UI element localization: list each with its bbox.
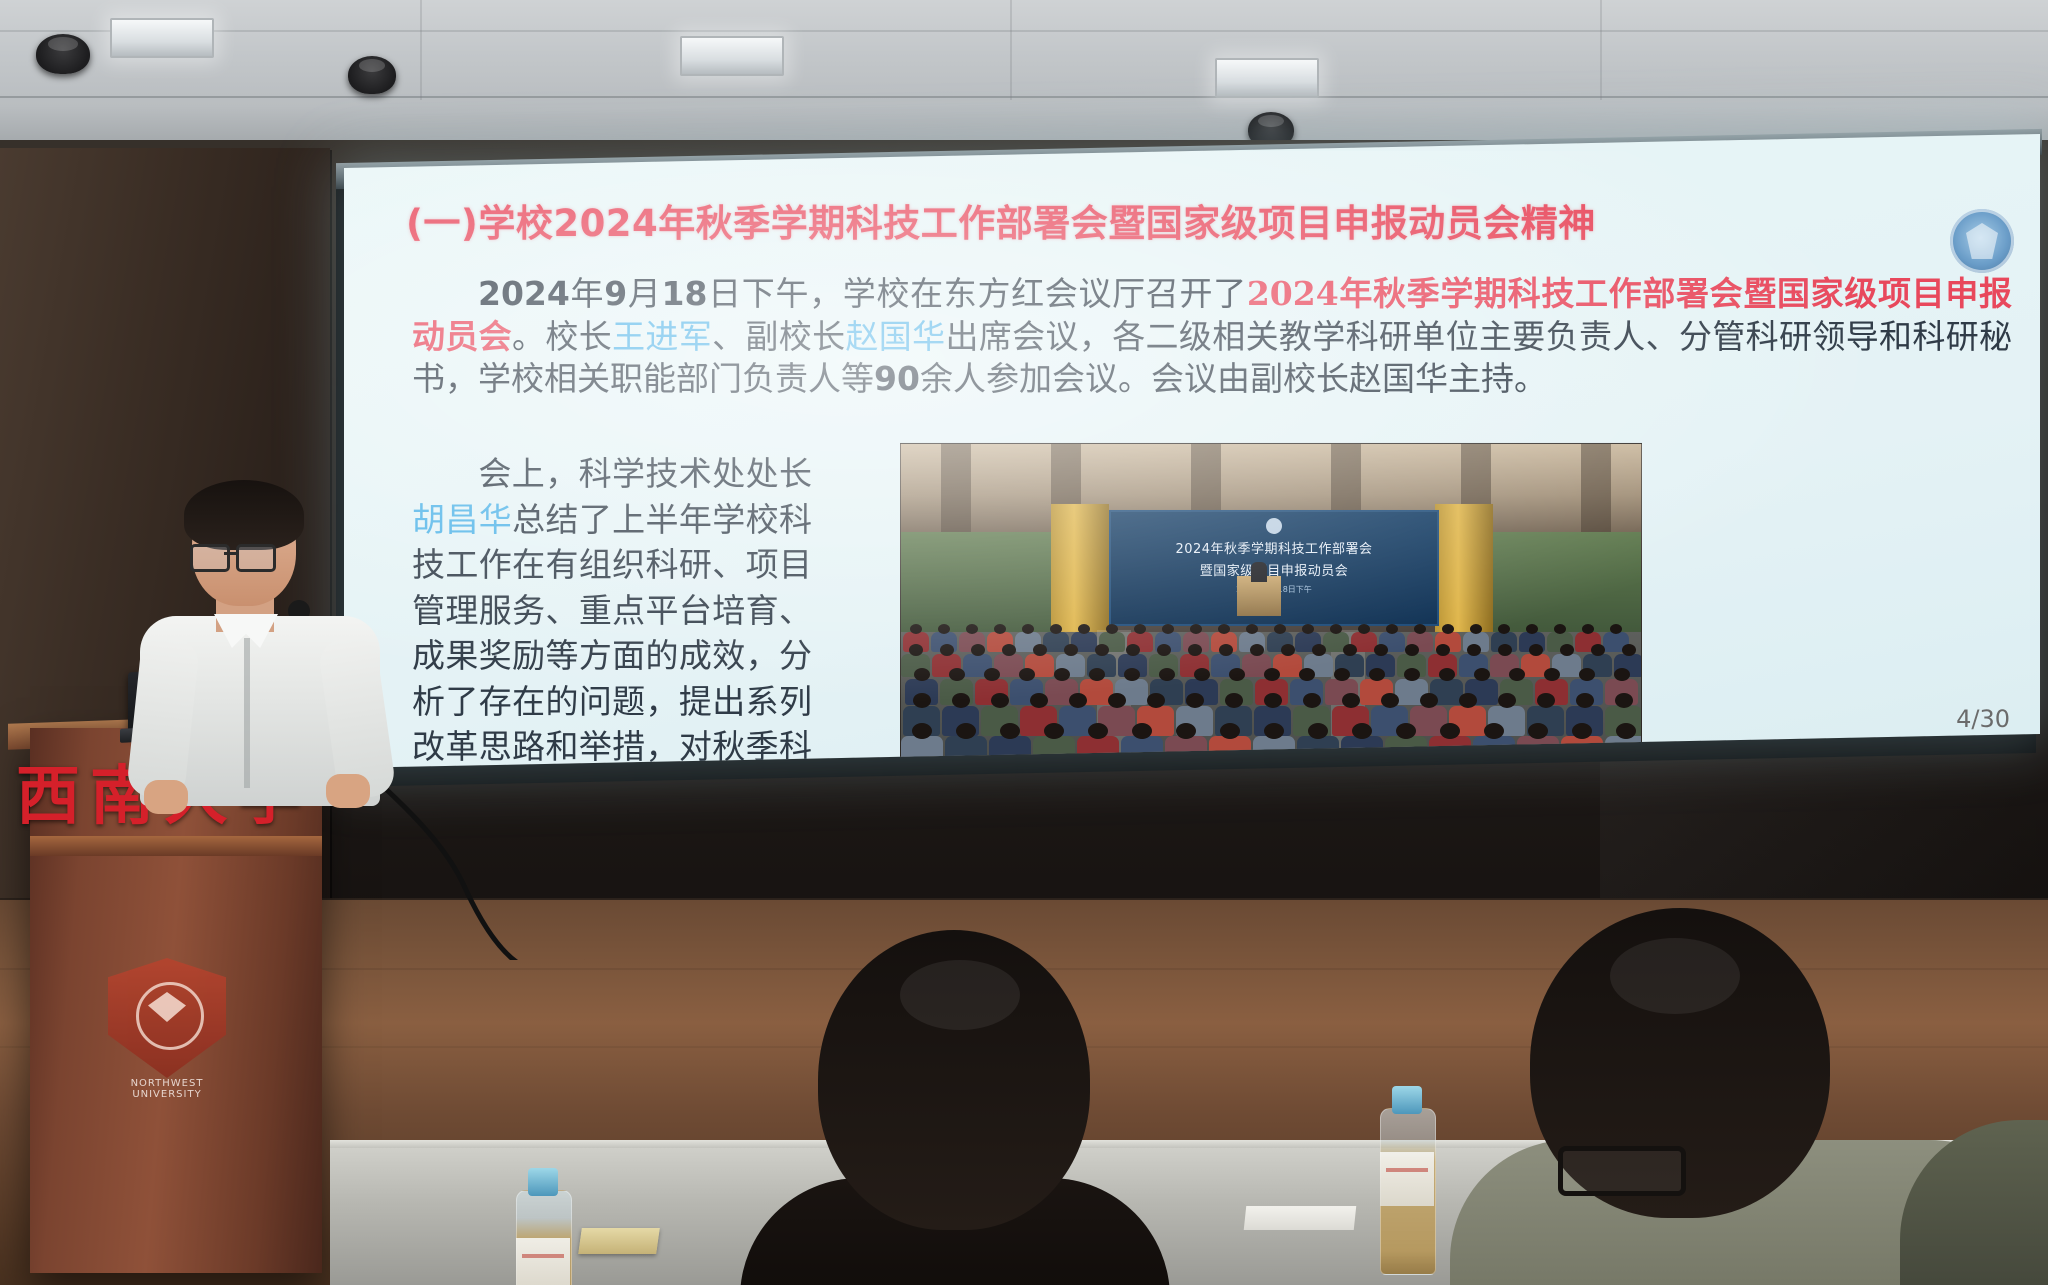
photo-audience-head — [1528, 723, 1548, 739]
photo-audience-head — [1420, 693, 1438, 708]
ceiling-seam — [0, 96, 2048, 98]
p1-seg11-name: 赵国华 — [845, 317, 945, 356]
p1-seg6: 日下午，学校在东方红会议厅召开了 — [707, 274, 1246, 313]
presenter-shirt-placket — [244, 638, 250, 788]
podium-emblem: NORTHWEST UNIVERSITY — [108, 958, 226, 1094]
photo-audience-head — [938, 624, 950, 634]
photo-audience-head — [909, 644, 923, 656]
presenter-hair — [184, 480, 304, 550]
photo-audience-head — [1126, 644, 1140, 656]
photo-audience-head — [1229, 668, 1245, 681]
photo-audience-head — [1498, 624, 1510, 634]
emblem-label: NORTHWEST UNIVERSITY — [108, 1078, 226, 1100]
photo-audience-head — [1019, 668, 1035, 681]
photo-audience-head — [1576, 693, 1594, 708]
photo-audience-head — [1342, 693, 1360, 708]
photo-audience-head — [1162, 624, 1174, 634]
photo-audience-head — [1582, 624, 1594, 634]
audience-glasses — [1558, 1146, 1686, 1196]
ceiling-light-panel — [1215, 58, 1319, 98]
photo-audience-head — [1022, 624, 1034, 634]
photo-audience-head — [1147, 693, 1165, 708]
photo-audience-head — [1386, 624, 1398, 634]
photo-audience-head — [1054, 668, 1070, 681]
hair-highlight — [1610, 938, 1740, 1014]
photo-audience-head — [1614, 668, 1630, 681]
ceiling-seam — [420, 0, 422, 100]
podium-band — [30, 836, 322, 856]
photo-audience-head — [1436, 644, 1450, 656]
photo-audience-head — [1050, 624, 1062, 634]
p1-seg10: 、副校长 — [712, 317, 845, 356]
room-scene: (一)学校2024年秋季学期科技工作部署会暨国家级项目申报动员会精神 2024年… — [0, 0, 2048, 1285]
photo-screen-logo-icon — [1266, 518, 1282, 534]
photo-audience-head — [1560, 644, 1574, 656]
photo-audience-head — [1572, 723, 1592, 739]
p1-seg13: 90 — [874, 359, 920, 398]
presenter-hand-right — [326, 774, 370, 808]
ceiling-spotlight — [348, 56, 396, 94]
photo-audience-head — [1064, 644, 1078, 656]
photo-audience-head — [913, 693, 931, 708]
photo-audience-head — [1442, 624, 1454, 634]
p1-seg9-name: 王进军 — [612, 317, 712, 356]
photo-audience-head — [1439, 668, 1455, 681]
slide-title: (一)学校2024年秋季学期科技工作部署会暨国家级项目申报动员会精神 — [406, 193, 1986, 247]
photo-audience-head — [1157, 644, 1171, 656]
photo-audience-head — [1526, 624, 1538, 634]
photo-audience-head — [952, 693, 970, 708]
photo-audience-head — [1220, 723, 1240, 739]
photo-audience-head — [1459, 693, 1477, 708]
photo-audience-head — [1537, 693, 1555, 708]
ceiling — [0, 0, 2048, 152]
photo-audience-head — [1264, 668, 1280, 681]
photo-audience-head — [1404, 668, 1420, 681]
photo-audience-head — [1078, 624, 1090, 634]
photo-audience-head — [912, 723, 932, 739]
hair-highlight — [900, 960, 1020, 1030]
photo-audience-head — [1134, 624, 1146, 634]
presenter — [140, 488, 380, 788]
photo-audience-head — [1002, 644, 1016, 656]
photo-audience-head — [1108, 693, 1126, 708]
photo-stage-curtain — [1435, 504, 1493, 632]
photo-audience-head — [1610, 624, 1622, 634]
photo-audience-head — [940, 644, 954, 656]
photo-audience-head — [1176, 723, 1196, 739]
photo-audience-head — [1579, 668, 1595, 681]
photo-audience-head — [984, 668, 1000, 681]
photo-audience-head — [1615, 693, 1633, 708]
photo-audience-head — [1186, 693, 1204, 708]
ceiling-spotlight — [36, 34, 90, 74]
photo-audience-head — [1274, 624, 1286, 634]
photo-audience-head — [1396, 723, 1416, 739]
photo-audience-head — [1281, 644, 1295, 656]
name-card-holder — [578, 1228, 660, 1254]
photo-audience-head — [1334, 668, 1350, 681]
paper-sheet — [1244, 1206, 1357, 1230]
photo-audience-head — [956, 723, 976, 739]
photo-audience-head — [1159, 668, 1175, 681]
photo-audience-head — [1591, 644, 1605, 656]
ceiling-light-panel — [110, 18, 214, 58]
ceiling-seam — [1010, 0, 1012, 100]
photo-audience-head — [1095, 644, 1109, 656]
photo-audience-head — [1246, 624, 1258, 634]
p2-seg2-name: 胡昌华 — [412, 500, 512, 539]
photo-audience-head — [966, 624, 978, 634]
photo-audience-head — [1194, 668, 1210, 681]
presenter-hand-left — [144, 780, 188, 814]
ceiling-seam — [1600, 0, 1602, 100]
projection-screen: (一)学校2024年秋季学期科技工作部署会暨国家级项目申报动员会精神 2024年… — [344, 134, 2040, 768]
photo-audience-head — [991, 693, 1009, 708]
photo-audience-head — [971, 644, 985, 656]
photo-audience-head — [1470, 624, 1482, 634]
meeting-hall-photo: 2024年秋季学期科技工作部署会 暨国家级项目申报动员会 2024年9月18日下… — [900, 443, 1642, 765]
photo-audience-head — [1069, 693, 1087, 708]
emblem-shield-icon — [108, 958, 226, 1078]
photo-audience-head — [1303, 693, 1321, 708]
bottle-cap — [528, 1168, 558, 1196]
photo-audience-head — [1330, 624, 1342, 634]
photo-audience-head — [1030, 693, 1048, 708]
photo-audience-head — [1484, 723, 1504, 739]
photo-audience-head — [1405, 644, 1419, 656]
photo-audience-head — [1369, 668, 1385, 681]
p1-seg8: 。校长 — [512, 317, 612, 356]
photo-audience-head — [1000, 723, 1020, 739]
photo-audience-head — [1219, 644, 1233, 656]
slide-page-indicator: 4/30 — [1956, 705, 2010, 733]
photo-audience-head — [1498, 693, 1516, 708]
photo-audience-head — [1132, 723, 1152, 739]
photo-audience-head — [1474, 668, 1490, 681]
photo-audience-head — [1264, 693, 1282, 708]
photo-audience-head — [1414, 624, 1426, 634]
p2-seg1: 会上，科学技术处处长 — [478, 454, 812, 493]
photo-audience-head — [1554, 624, 1566, 634]
p1-seg4: 月 — [627, 274, 661, 313]
p1-seg14: 余人参加会议。会议由副校长赵国华主持。 — [920, 359, 1547, 398]
slide-paragraph-1: 2024年9月18日下午，学校在东方红会议厅召开了2024年秋季学期科技工作部署… — [412, 273, 2012, 401]
photo-audience-head — [1190, 624, 1202, 634]
photo-audience-head — [1352, 723, 1372, 739]
photo-stage-curtain — [1051, 504, 1109, 632]
p1-seg5: 18 — [662, 274, 708, 313]
photo-speaker — [1251, 562, 1267, 582]
p1-seg2: 年 — [570, 274, 604, 313]
photo-audience-head — [1529, 644, 1543, 656]
photo-audience-head — [1250, 644, 1264, 656]
ceiling-seam — [0, 30, 2048, 32]
photo-audience-head — [1312, 644, 1326, 656]
p1-seg1: 2024 — [478, 274, 570, 313]
photo-caption-line1: 2024年秋季学期科技工作部署会 — [1111, 538, 1437, 557]
photo-audience-head — [914, 668, 930, 681]
photo-audience-head — [994, 624, 1006, 634]
photo-audience-head — [1498, 644, 1512, 656]
photo-audience-head — [1225, 693, 1243, 708]
university-logo-icon — [1950, 209, 2014, 273]
presenter-glasses-left — [190, 544, 230, 572]
photo-audience-head — [949, 668, 965, 681]
photo-beam — [1581, 444, 1611, 536]
photo-audience-head — [1033, 644, 1047, 656]
bottle-label — [516, 1238, 570, 1285]
photo-audience-head — [1467, 644, 1481, 656]
photo-beam — [941, 444, 971, 536]
photo-audience-head — [1044, 723, 1064, 739]
presenter-glasses-right — [236, 544, 276, 572]
photo-audience-head — [1308, 723, 1328, 739]
photo-audience-head — [1509, 668, 1525, 681]
p1-seg3: 9 — [604, 274, 627, 313]
photo-audience-head — [1616, 723, 1636, 739]
photo-audience-head — [1264, 723, 1284, 739]
photo-audience-head — [1218, 624, 1230, 634]
photo-audience-head — [1188, 644, 1202, 656]
photo-audience-head — [1302, 624, 1314, 634]
photo-audience-head — [1440, 723, 1460, 739]
presenter-glasses-bridge — [224, 552, 238, 555]
photo-audience-head — [1088, 723, 1108, 739]
photo-audience-head — [1358, 624, 1370, 634]
photo-audience-head — [1343, 644, 1357, 656]
photo-audience-head — [910, 624, 922, 634]
photo-audience-head — [1374, 644, 1388, 656]
photo-audience-head — [1544, 668, 1560, 681]
photo-audience-head — [1622, 644, 1636, 656]
photo-audience-head — [1299, 668, 1315, 681]
photo-audience-head — [1381, 693, 1399, 708]
photo-audience-head — [1106, 624, 1118, 634]
bottle-cap — [1392, 1086, 1422, 1114]
bottle-label — [1380, 1152, 1434, 1206]
photo-audience-head — [1089, 668, 1105, 681]
photo-audience-head — [1124, 668, 1140, 681]
ceiling-light-panel — [680, 36, 784, 76]
